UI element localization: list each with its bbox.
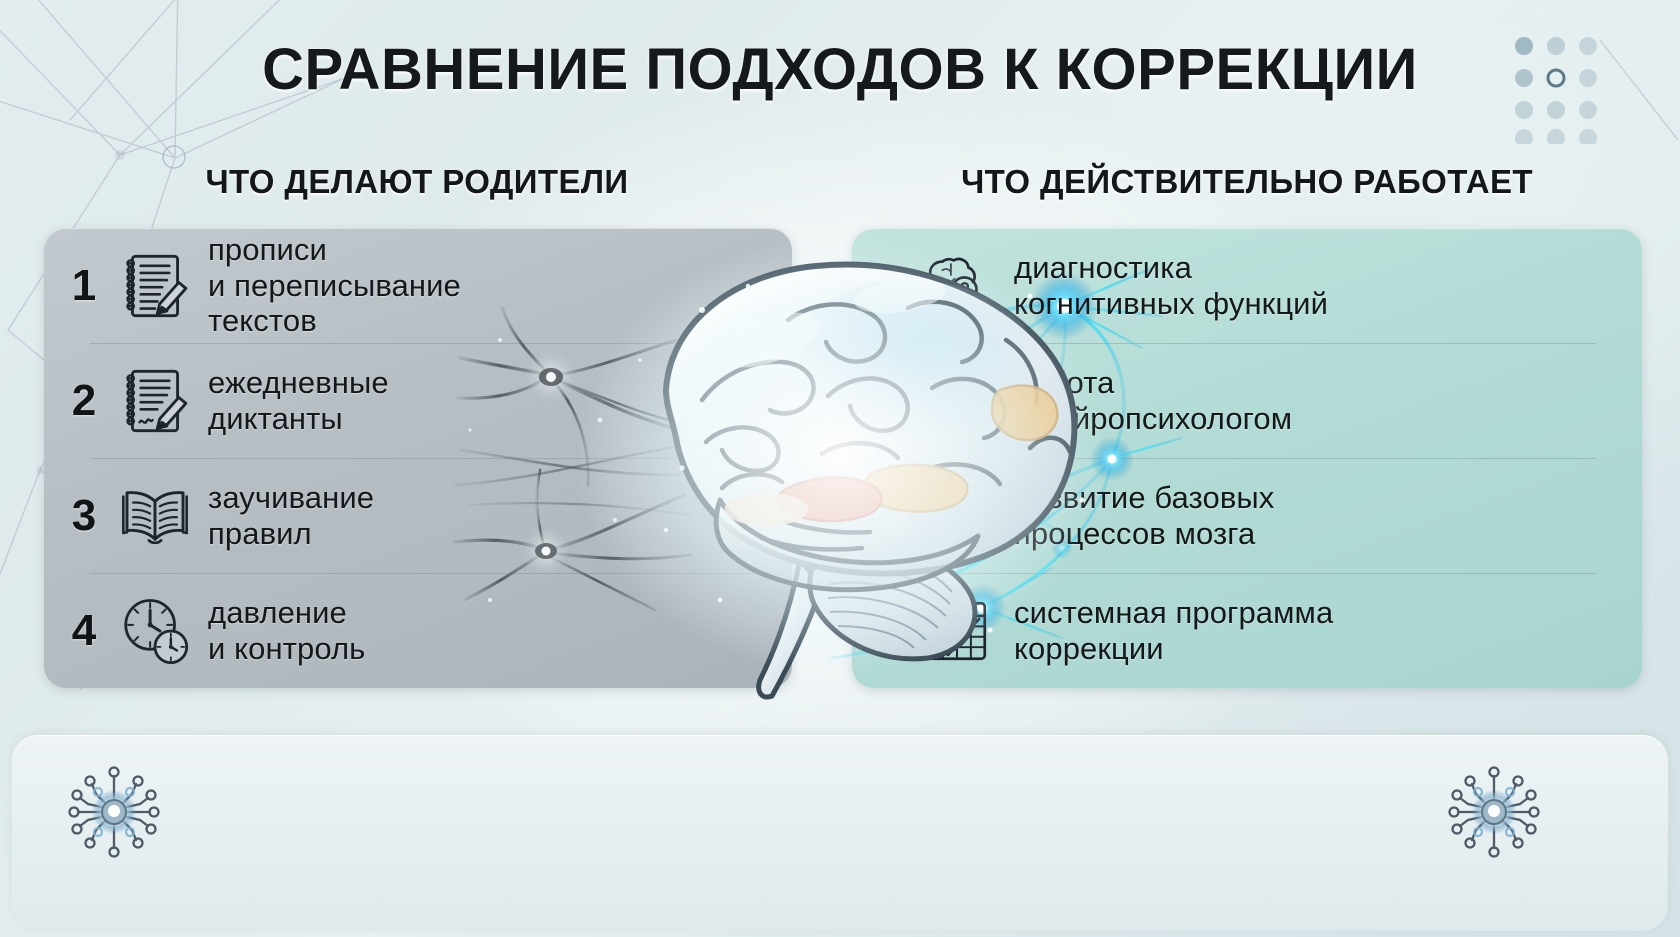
item-number: 4 <box>858 606 914 656</box>
page-title: СРАВНЕНИЕ ПОДХОДОВ К КОРРЕКЦИИ <box>0 36 1680 103</box>
item-number: 3 <box>56 491 112 541</box>
list-item[interactable]: 2 работа с ней <box>852 343 1642 458</box>
brain-magnifier-icon <box>914 243 1000 329</box>
doctor-child-icon <box>914 358 1000 444</box>
list-item[interactable]: 1 <box>44 228 792 343</box>
brain-network-icon <box>914 473 1000 559</box>
list-item[interactable]: 2 <box>44 343 792 458</box>
panel-what-parents-do: 1 <box>44 228 792 688</box>
neural-node-burst-icon <box>58 756 170 868</box>
item-label: давление и контроль <box>198 595 792 667</box>
item-label: прописи и переписывание текстов <box>198 232 792 340</box>
item-label: диагностика когнитивных функций <box>1000 250 1642 322</box>
item-label: ежедневные диктанты <box>198 365 792 437</box>
item-number: 2 <box>56 376 112 426</box>
open-book-icon <box>112 473 198 559</box>
list-item[interactable]: 3 заучивание правил <box>44 458 792 573</box>
item-number: 4 <box>56 606 112 656</box>
panel-what-really-works: 1 диагностика <box>852 228 1642 688</box>
footer-bar <box>12 735 1668 931</box>
notebook-pencil-signature-icon <box>112 358 198 444</box>
item-number: 1 <box>858 261 914 311</box>
item-number: 3 <box>858 491 914 541</box>
item-label: системная программа коррекции <box>1000 595 1642 667</box>
dot-grid-pattern <box>1512 34 1608 144</box>
item-number: 1 <box>56 261 112 311</box>
list-item[interactable]: 4 <box>852 573 1642 688</box>
column-heading-parents: ЧТО ДЕЛАЮТ РОДИТЕЛИ <box>46 163 788 201</box>
item-number: 2 <box>858 376 914 426</box>
list-item[interactable]: 1 диагностика <box>852 228 1642 343</box>
item-label: развитие базовых процессов мозга <box>1000 480 1642 552</box>
list-item[interactable]: 3 <box>852 458 1642 573</box>
clocks-icon <box>112 588 198 674</box>
checklist-calendar-icon <box>914 588 1000 674</box>
item-label: работа с нейропсихологом <box>1000 365 1642 437</box>
column-heading-works: ЧТО ДЕЙСТВИТЕЛЬНО РАБОТАЕТ <box>852 163 1642 201</box>
infographic-canvas: СРАВНЕНИЕ ПОДХОДОВ К КОРРЕКЦИИ ЧТО ДЕЛАЮ… <box>0 0 1680 937</box>
list-item[interactable]: 4 <box>44 573 792 688</box>
item-label: заучивание правил <box>198 480 792 552</box>
notebook-pencil-icon <box>112 243 198 329</box>
neural-node-burst-icon <box>1438 756 1550 868</box>
